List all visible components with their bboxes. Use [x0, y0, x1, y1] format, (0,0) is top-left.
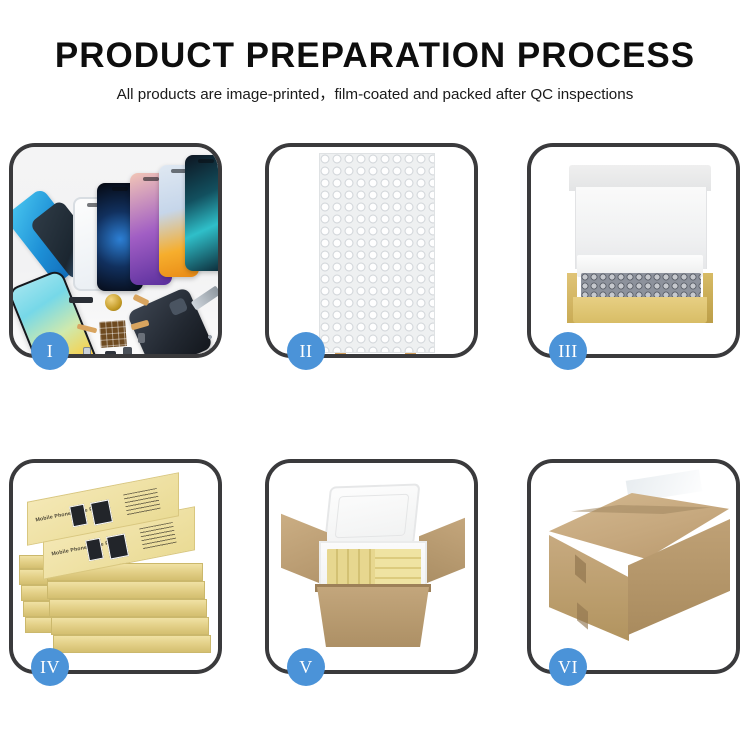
step-panel-4: Mobile Phone Spare Parts Mobile Phone Sp…	[9, 459, 222, 674]
step-badge-4: IV	[31, 648, 69, 686]
box-stack: Mobile Phone Spare Parts Mobile Phone Sp…	[13, 463, 218, 670]
box-body	[47, 581, 205, 599]
step-panel-6: VI	[527, 459, 740, 674]
notch-icon	[112, 187, 128, 191]
page-header: PRODUCT PREPARATION PROCESS All products…	[0, 0, 750, 105]
tweezers-tool-icon	[191, 285, 218, 310]
notch-icon	[143, 177, 159, 181]
step-4-image: Mobile Phone Spare Parts Mobile Phone Sp…	[13, 463, 218, 670]
phone-teal-display-icon	[185, 155, 218, 271]
carton-left-face-icon	[549, 535, 629, 641]
box-body	[53, 635, 211, 653]
screws-icon	[207, 333, 218, 354]
box-body	[51, 617, 209, 635]
step-panel-2: II	[265, 143, 478, 358]
bubble-wrap-scene	[269, 147, 474, 354]
step-badge-5: V	[287, 648, 325, 686]
step-panel-3: III	[527, 143, 740, 358]
carton-packing-scene	[269, 463, 474, 670]
step-badge-6: VI	[549, 648, 587, 686]
flex-cable-icon	[132, 294, 149, 306]
step-badge-2: II	[287, 332, 325, 370]
spare-parts-scene	[13, 147, 218, 354]
earpiece-speaker-icon	[69, 297, 93, 303]
step-3-image	[531, 147, 736, 354]
inner-box-scene	[531, 147, 736, 354]
step-panel-1: I	[9, 143, 222, 358]
sim-tray-icon	[83, 347, 91, 354]
sealed-carton-scene	[531, 463, 736, 670]
step-badge-3: III	[549, 332, 587, 370]
notch-icon	[198, 159, 214, 163]
box-screen-image	[106, 533, 129, 559]
page-title: PRODUCT PREPARATION PROCESS	[0, 0, 750, 76]
process-steps-grid: I II	[9, 143, 741, 680]
bubble-wrap-bag-icon	[319, 153, 435, 353]
box-front-panel-icon	[573, 297, 707, 323]
carton-front-icon	[317, 587, 429, 647]
step-2-image	[269, 147, 474, 354]
step-1-image	[13, 147, 218, 354]
page-subtitle: All products are image-printed，film-coat…	[0, 76, 750, 105]
step-6-image	[531, 463, 736, 670]
stacked-boxes-scene: Mobile Phone Spare Parts Mobile Phone Sp…	[13, 463, 218, 670]
vibrator-motor-icon	[105, 294, 122, 311]
connector-board-icon	[99, 320, 127, 348]
small-component-icon	[138, 333, 145, 343]
small-component-icon	[123, 347, 132, 354]
step-5-image	[269, 463, 474, 670]
box-body	[49, 599, 207, 617]
foam-lid-icon	[324, 483, 421, 548]
box-screen-image	[90, 499, 113, 525]
step-panel-5: V	[265, 459, 478, 674]
small-component-icon	[105, 351, 116, 354]
step-badge-1: I	[31, 332, 69, 370]
packed-yellow-boxes-icon	[375, 549, 421, 589]
